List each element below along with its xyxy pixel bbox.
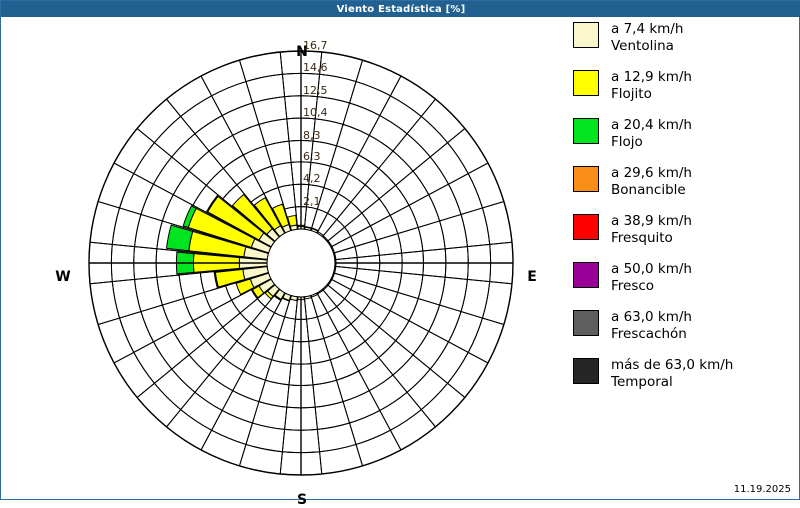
grid-cell [324, 332, 349, 359]
legend-item[interactable]: a 7,4 km/hVentolina [573, 21, 683, 55]
grid-cell [309, 338, 331, 363]
legend-speed-range: a 7,4 km/h [611, 21, 683, 38]
grid-cell [379, 151, 413, 185]
legend-item[interactable]: a 29,6 km/hBonancible [573, 165, 692, 199]
legend-color-swatch [573, 358, 599, 384]
grid-cell [237, 324, 264, 352]
grid-cell [222, 391, 259, 423]
grid-cell [90, 201, 120, 244]
grid-cell [393, 355, 430, 392]
grid-cell [337, 124, 370, 155]
grid-cell [376, 234, 401, 256]
grid-cell [370, 215, 397, 240]
grid-cell [272, 338, 294, 363]
grid-cell [351, 185, 379, 213]
legend-color-swatch [573, 214, 599, 240]
legend-color-swatch [573, 22, 599, 48]
wind-rose-window: Viento Estadística [%] N E S W 2,14,26,3… [0, 0, 800, 500]
grid-cell [212, 300, 240, 327]
grid-cell [90, 282, 120, 325]
legend-item[interactable]: a 50,0 km/hFresco [573, 261, 692, 295]
grid-cell [338, 324, 365, 352]
grid-cell [334, 266, 358, 279]
compass-label-south: S [281, 492, 323, 508]
legend-color-swatch [573, 70, 599, 96]
grid-cell [482, 282, 512, 325]
grid-cell [359, 135, 393, 168]
grid-cell [307, 317, 324, 341]
wind-rose-petal-segment [290, 296, 297, 301]
legend-speed-range: a 63,0 km/h [611, 309, 692, 326]
grid-cell [209, 135, 243, 168]
legend-speed-range: a 38,9 km/h [611, 213, 692, 230]
grid-cell [246, 74, 285, 103]
grid-cell [320, 444, 363, 474]
legend-label: a 20,4 km/hFlojo [611, 117, 692, 151]
radial-tick-label: 10,4 [303, 106, 328, 119]
grid-cell [379, 341, 413, 375]
grid-cell [355, 240, 379, 257]
grid-cell [253, 166, 278, 193]
grid-cell [315, 402, 349, 430]
grid-cell [390, 205, 418, 233]
grid-cell [376, 271, 401, 293]
grid-cell [154, 369, 194, 409]
legend-speed-range: más de 63,0 km/h [611, 357, 733, 374]
legend-item[interactable]: a 20,4 km/hFlojo [573, 117, 692, 151]
legend-label: a 38,9 km/hFresquito [611, 213, 692, 247]
legend-color-swatch [573, 262, 599, 288]
legend-speed-range: a 20,4 km/h [611, 117, 692, 134]
legend-speed-range: a 29,6 km/h [611, 165, 692, 182]
grid-cell [114, 129, 154, 174]
radial-tick-label: 2,1 [303, 195, 321, 208]
radial-tick-label: 16,7 [303, 39, 328, 52]
grid-cell [239, 444, 282, 474]
grid-cell [365, 327, 395, 357]
grid-cell [317, 423, 356, 452]
grid-cell [409, 299, 440, 332]
grid-cell [379, 185, 409, 215]
grid-cell [448, 352, 488, 397]
legend-label: a 12,9 km/hFlojito [611, 69, 692, 103]
legend: a 7,4 km/hVentolinaa 12,9 km/hFlojitoa 2… [573, 21, 799, 441]
legend-label: a 63,0 km/hFrescachón [611, 309, 692, 343]
grid-cell [330, 146, 358, 174]
grid-cell [141, 184, 173, 221]
grid-cell [461, 208, 490, 247]
legend-force-name: Frescachón [611, 326, 692, 343]
grid-cell [365, 168, 395, 198]
legend-force-name: Fresquito [611, 230, 692, 247]
grid-cell [252, 97, 286, 125]
wind-rose-svg [2, 18, 567, 499]
grid-cell [393, 134, 430, 171]
radial-tick-label: 6,3 [303, 150, 321, 163]
compass-label-east: E [511, 269, 553, 285]
grid-cell [362, 199, 390, 226]
legend-color-swatch [573, 166, 599, 192]
grid-cell [243, 352, 271, 380]
legend-label: a 7,4 km/hVentolina [611, 21, 683, 55]
grid-cell [407, 116, 447, 156]
grid-cell [407, 369, 447, 409]
legend-item[interactable]: a 63,0 km/hFrescachón [573, 309, 692, 343]
grid-cell [362, 300, 390, 327]
radial-tick-label: 4,2 [303, 172, 321, 185]
grid-cell [189, 341, 223, 375]
legend-color-swatch [573, 118, 599, 144]
grid-cell [343, 103, 380, 135]
legend-label: a 29,6 km/hBonancible [611, 165, 692, 199]
grid-cell [351, 313, 379, 341]
date-stamp: 11.19.2025 [734, 484, 791, 495]
wind-rose-plot: N E S W 2,14,26,38,310,412,514,616,7 [2, 18, 567, 499]
grid-cell [429, 305, 461, 342]
grid-cell [173, 321, 206, 355]
grid-cell [223, 313, 251, 341]
legend-speed-range: a 50,0 km/h [611, 261, 692, 278]
grid-cell [154, 116, 194, 156]
grid-cell [461, 279, 490, 318]
grid-cell [172, 355, 209, 392]
legend-force-name: Ventolina [611, 38, 683, 55]
grid-cell [396, 321, 429, 355]
grid-cell [189, 151, 223, 185]
grid-cell [223, 341, 253, 371]
grid-cell [338, 174, 365, 202]
grid-cell [209, 358, 243, 391]
radial-tick-label: 12,5 [303, 84, 328, 97]
grid-cell [349, 155, 379, 185]
legend-item[interactable]: a 12,9 km/hFlojito [573, 69, 692, 103]
grid-cell [233, 371, 266, 402]
grid-cell [272, 162, 294, 187]
compass-label-west: W [42, 269, 84, 285]
grid-cell [390, 76, 435, 116]
grid-cell [206, 327, 236, 357]
legend-label: más de 63,0 km/hTemporal [611, 357, 733, 391]
grid-cell [135, 277, 163, 311]
grid-cell [204, 286, 231, 311]
grid-cell [243, 146, 271, 174]
grid-cell [112, 279, 141, 318]
grid-cell [349, 341, 379, 371]
window-title-bar: Viento Estadística [%] [1, 1, 800, 17]
legend-label: a 50,0 km/hFresco [611, 261, 692, 295]
grid-cell [440, 214, 468, 248]
grid-cell [173, 171, 206, 205]
legend-speed-range: a 12,9 km/h [611, 69, 692, 86]
radial-tick-label: 8,3 [303, 129, 321, 142]
radial-tick-label: 14,6 [303, 61, 328, 74]
legend-item[interactable]: más de 63,0 km/hTemporal [573, 357, 733, 391]
grid-cell [184, 292, 212, 320]
grid-cell [239, 52, 282, 82]
legend-color-swatch [573, 310, 599, 336]
grid-cell [359, 358, 393, 391]
grid-cell [193, 311, 223, 341]
legend-force-name: Flojo [611, 134, 692, 151]
grid-cell [172, 134, 209, 171]
grid-cell [206, 168, 236, 198]
grid-cell [223, 155, 253, 185]
window-title: Viento Estadística [%] [337, 4, 466, 15]
grid-cell [396, 171, 429, 205]
legend-force-name: Fresco [611, 278, 692, 295]
grid-cell [482, 201, 512, 244]
grid-cell [330, 352, 358, 380]
grid-cell [112, 208, 141, 247]
legend-force-name: Temporal [611, 374, 733, 391]
legend-force-name: Flojito [611, 86, 692, 103]
legend-force-name: Bonancible [611, 182, 692, 199]
grid-cell [390, 292, 418, 320]
grid-cell [167, 410, 212, 450]
grid-cell [246, 423, 285, 452]
legend-item[interactable]: a 38,9 km/hFresquito [573, 213, 692, 247]
grid-cell [379, 311, 409, 341]
